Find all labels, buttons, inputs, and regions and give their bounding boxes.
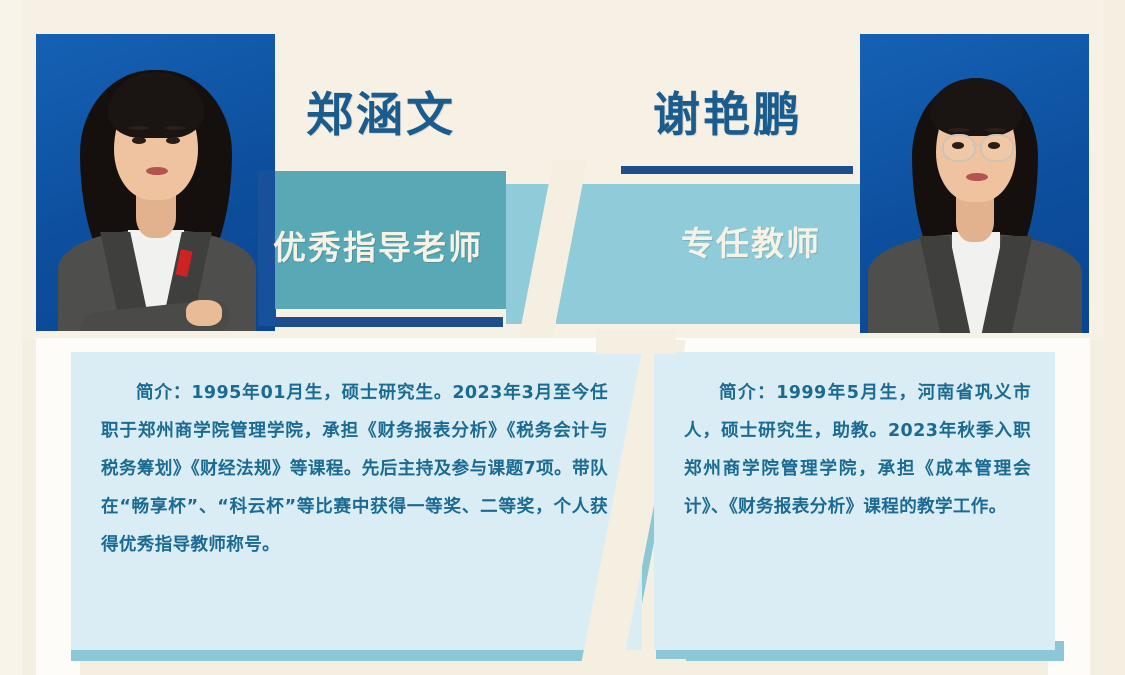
poster-canvas: 郑涵文 优秀指导老师 谢艳鹏 专任教师 — [0, 0, 1125, 675]
profile-name-left: 郑涵文 — [306, 76, 456, 145]
profile-name-right: 谢艳鹏 — [653, 76, 803, 145]
profile-photo-left — [36, 34, 275, 331]
profile-role-right: 专任教师 — [681, 217, 821, 265]
profile-photo-right — [860, 34, 1089, 333]
portrait-figure-right — [860, 34, 1089, 333]
notch-top — [596, 330, 676, 354]
bio-text-right: 简介：1999年5月生，河南省巩义市人，硕士研究生，助教。2023年秋季入职郑州… — [684, 374, 1031, 526]
bio-text-left: 简介：1995年01月生，硕士研究生。2023年3月至今任职于郑州商学院管理学院… — [101, 374, 608, 564]
profile-role-left: 优秀指导老师 — [273, 221, 483, 269]
portrait-figure-left — [36, 34, 275, 331]
bio-panel-left: 简介：1995年01月生，硕士研究生。2023年3月至今任职于郑州商学院管理学院… — [71, 352, 642, 650]
notch-bottom — [596, 659, 686, 675]
background-left-strip — [0, 0, 22, 675]
name-underline-right — [621, 166, 853, 174]
bio-panel-right: 简介：1999年5月生，河南省巩义市人，硕士研究生，助教。2023年秋季入职郑州… — [654, 352, 1055, 650]
role-underline-left — [275, 317, 503, 327]
bio-gutter-band — [36, 338, 1090, 352]
